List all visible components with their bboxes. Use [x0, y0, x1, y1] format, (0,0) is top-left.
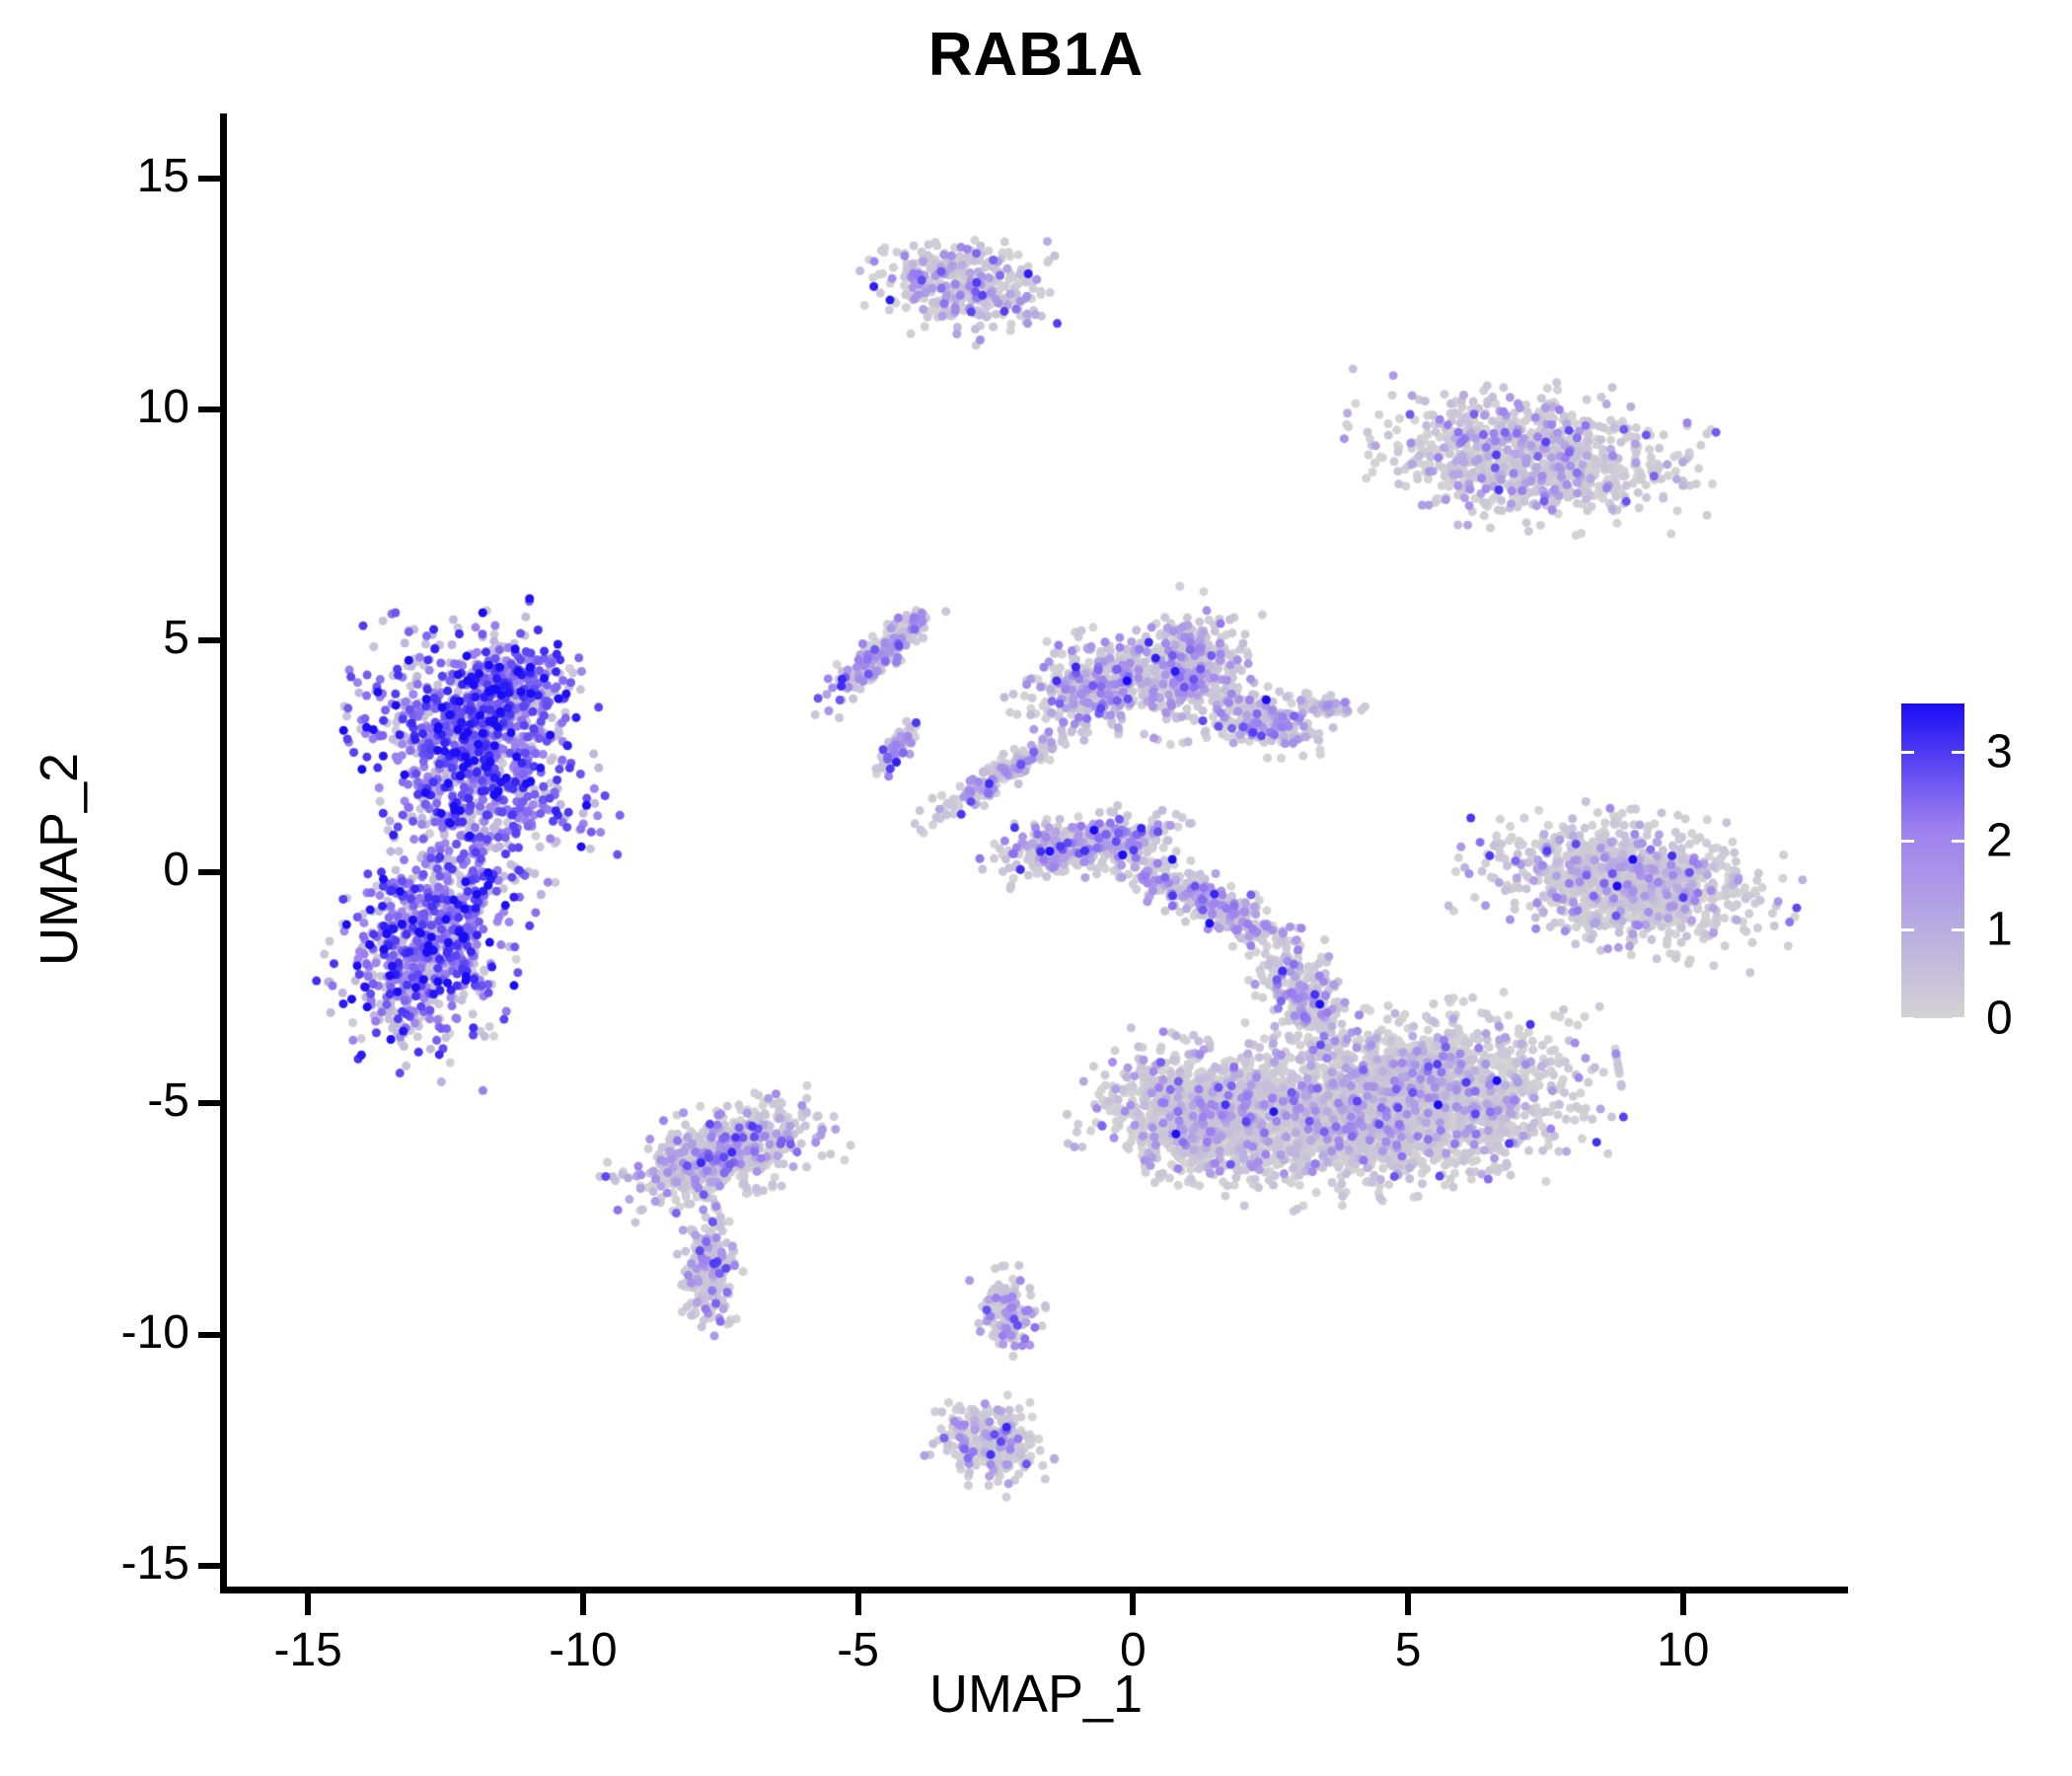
x-tick-mark — [855, 1593, 861, 1615]
x-tick-mark — [1680, 1593, 1686, 1615]
colorbar-tick-label: 2 — [1986, 814, 2013, 868]
x-tick-mark — [305, 1593, 311, 1615]
y-tick-label: 10 — [0, 380, 189, 434]
colorbar-tick-mark — [1901, 928, 1914, 931]
colorbar-tick-label: 3 — [1986, 725, 2013, 779]
y-tick-mark — [198, 176, 220, 182]
x-tick-mark — [1405, 1593, 1411, 1615]
x-tick-mark — [580, 1593, 586, 1615]
y-axis-title: UMAP_2 — [29, 465, 90, 1254]
colorbar-tick-label: 1 — [1986, 903, 2013, 957]
y-tick-mark — [198, 407, 220, 412]
x-tick-mark — [1130, 1593, 1136, 1615]
x-axis-title: UMAP_1 — [0, 1664, 2072, 1725]
y-tick-mark — [198, 637, 220, 643]
y-tick-label: -10 — [0, 1305, 189, 1360]
colorbar-tick-mark — [1952, 751, 1964, 754]
colorbar-tick-mark — [1901, 751, 1914, 754]
x-axis-line — [220, 1587, 1848, 1593]
colorbar-tick-mark — [1952, 1017, 1964, 1020]
colorbar-tick-label: 0 — [1986, 992, 2013, 1046]
colorbar-tick-mark — [1901, 840, 1914, 843]
colorbar-tick-mark — [1952, 840, 1964, 843]
y-tick-label: 15 — [0, 149, 189, 203]
scatter-plot-canvas — [220, 113, 1848, 1593]
y-tick-mark — [198, 869, 220, 875]
colorbar-tick-mark — [1952, 928, 1964, 931]
color-legend: 0123 — [1901, 703, 2049, 1029]
umap-feature-plot: RAB1A -15-10-5051015 -15-10-50510 UMAP_1… — [0, 0, 2072, 1776]
page-title: RAB1A — [0, 22, 2072, 89]
y-tick-label: -15 — [0, 1536, 189, 1591]
y-axis-line — [220, 113, 227, 1593]
y-tick-mark — [198, 1563, 220, 1569]
colorbar-tick-mark — [1901, 1017, 1914, 1020]
y-tick-mark — [198, 1332, 220, 1338]
y-tick-mark — [198, 1100, 220, 1106]
